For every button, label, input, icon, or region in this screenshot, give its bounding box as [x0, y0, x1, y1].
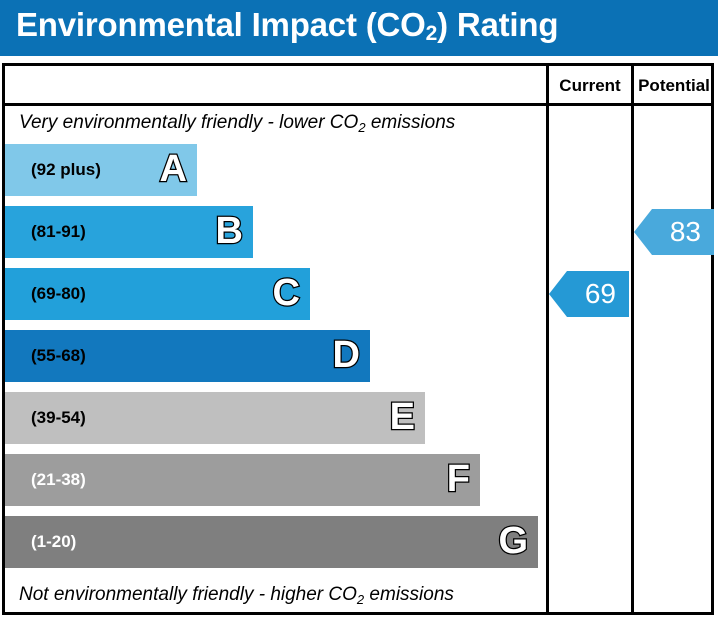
rating-band-a: (92 plus)A [5, 144, 197, 196]
column-header-potential: Potential [634, 71, 714, 101]
page-title: Environmental Impact (CO2) Rating [16, 6, 558, 44]
band-range-label: (39-54) [31, 392, 86, 444]
band-range-label: (81-91) [31, 206, 86, 258]
rating-band-b: (81-91)B [5, 206, 253, 258]
band-letter-b: B [216, 206, 243, 258]
band-range-label: (1-20) [31, 516, 76, 568]
rating-band-d: (55-68)D [5, 330, 370, 382]
column-header-current: Current [549, 71, 631, 101]
caption-bottom-after: emissions [364, 584, 454, 605]
title-subscript: 2 [426, 22, 437, 45]
band-range-label: (92 plus) [31, 144, 101, 196]
caption-top-before: Very environmentally friendly - lower CO [19, 112, 358, 133]
caption-top-after: emissions [366, 112, 456, 133]
rating-band-c: (69-80)C [5, 268, 310, 320]
band-range-label: (55-68) [31, 330, 86, 382]
rating-arrow-potential: 83 [634, 209, 714, 255]
rating-band-area: Very environmentally friendly - lower CO… [5, 106, 544, 612]
rating-band-g: (1-20)G [5, 516, 538, 568]
band-letter-e: E [390, 392, 415, 444]
chart-title-bar: Environmental Impact (CO2) Rating [0, 0, 718, 56]
band-letter-f: F [447, 454, 470, 506]
band-letter-d: D [333, 330, 360, 382]
caption-top: Very environmentally friendly - lower CO… [5, 106, 544, 140]
rating-band-f: (21-38)F [5, 454, 480, 506]
rating-arrow-current: 69 [549, 271, 629, 317]
rating-band-e: (39-54)E [5, 392, 425, 444]
band-letter-g: G [498, 516, 528, 568]
band-range-label: (69-80) [31, 268, 86, 320]
current-column-divider [546, 66, 549, 612]
band-letter-c: C [273, 268, 300, 320]
caption-bottom: Not environmentally friendly - higher CO… [5, 578, 544, 612]
title-text-before: Environmental Impact (CO [16, 6, 426, 43]
chart-frame: Current Potential Very environmentally f… [2, 63, 714, 615]
band-letter-a: A [160, 144, 187, 196]
caption-bottom-subscript: 2 [357, 592, 364, 607]
caption-bottom-before: Not environmentally friendly - higher CO [19, 584, 357, 605]
potential-column-divider [631, 66, 634, 612]
epc-environmental-impact-chart: Environmental Impact (CO2) Rating Curren… [0, 0, 718, 619]
band-range-label: (21-38) [31, 454, 86, 506]
title-text-after: ) Rating [437, 6, 558, 43]
caption-top-subscript: 2 [358, 120, 365, 135]
